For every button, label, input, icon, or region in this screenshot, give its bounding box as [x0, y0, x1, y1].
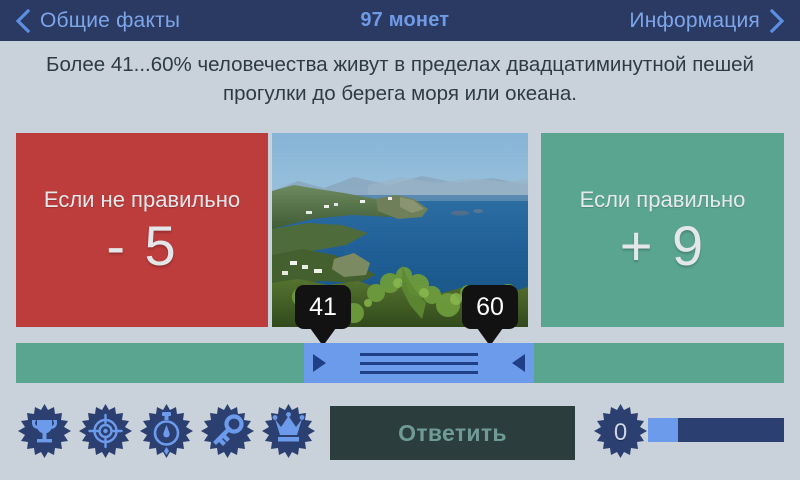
progress-bar-fill: [648, 418, 678, 442]
award-badge-target[interactable]: [77, 403, 134, 463]
penalty-panel: Если не правильно - 5: [16, 133, 268, 327]
top-header-bar: Общие факты 97 монет Информация: [0, 0, 800, 41]
award-badge-stopwatch[interactable]: [138, 403, 195, 463]
chevron-right-icon: [769, 9, 786, 33]
triangle-left-icon[interactable]: [512, 354, 525, 372]
panels-row: Если не правильно - 5: [0, 133, 800, 327]
range-low-pin: 41: [295, 285, 351, 346]
reward-value: + 9: [620, 217, 705, 275]
score-badge-wrap: 0: [592, 403, 649, 463]
coins-counter: 97 монет: [360, 9, 449, 32]
penalty-value: - 5: [106, 217, 177, 275]
range-slider-selection[interactable]: [304, 343, 534, 383]
reward-caption: Если правильно: [580, 186, 746, 213]
back-button-label: Общие факты: [40, 10, 180, 31]
range-high-value: 60: [462, 285, 518, 329]
trophy-icon: [16, 403, 73, 463]
info-button[interactable]: Информация: [629, 9, 786, 33]
quiz-screen: Общие факты 97 монет Информация Более 41…: [0, 0, 800, 480]
target-icon: [77, 403, 134, 463]
grip-lines-icon[interactable]: [360, 353, 478, 374]
range-slider-track[interactable]: [16, 343, 784, 383]
question-text: Более 41...60% человечества живут в пред…: [18, 50, 782, 108]
progress-bar-track: [648, 418, 784, 442]
answer-button[interactable]: Ответить: [330, 406, 575, 460]
range-low-value: 41: [295, 285, 351, 329]
chevron-left-icon: [14, 9, 31, 33]
level-badge: 0: [592, 403, 649, 463]
award-badge-crown[interactable]: [260, 403, 317, 463]
award-badge-trophy[interactable]: [16, 403, 73, 463]
penalty-caption: Если не правильно: [44, 186, 240, 213]
award-badge-key[interactable]: [199, 403, 256, 463]
reward-panel: Если правильно + 9: [541, 133, 784, 327]
stopwatch-icon: [138, 403, 195, 463]
triangle-right-icon[interactable]: [313, 354, 326, 372]
info-button-label: Информация: [629, 10, 760, 31]
key-icon: [199, 403, 256, 463]
range-high-pin: 60: [462, 285, 518, 346]
level-badge-value: 0: [592, 403, 649, 463]
back-button[interactable]: Общие факты: [14, 9, 180, 33]
crown-icon: [260, 403, 317, 463]
award-badges: [16, 403, 317, 463]
